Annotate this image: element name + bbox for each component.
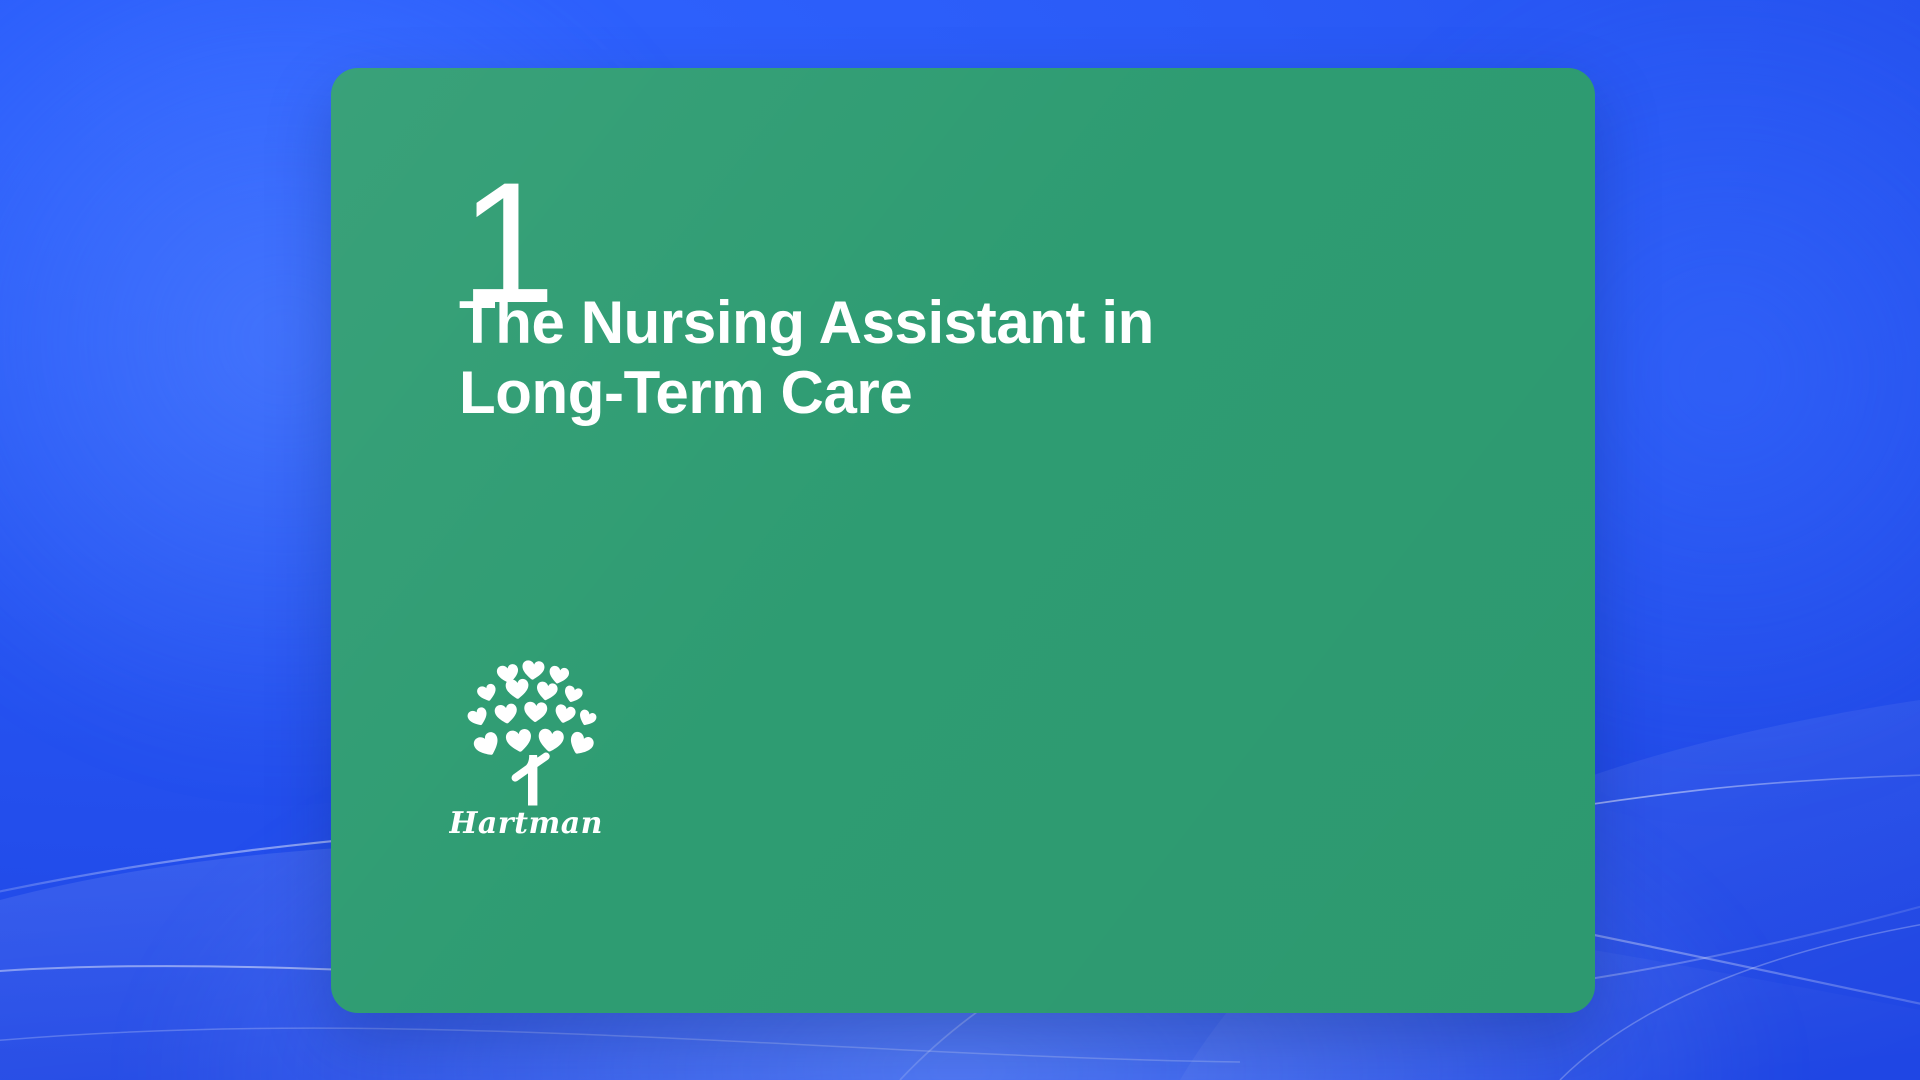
slide-canvas: 1 The Nursing Assistant in Long-Term Car… — [0, 0, 1920, 1080]
brand-wordmark-text: Hartman — [449, 806, 603, 841]
page-title: The Nursing Assistant in Long-Term Care — [459, 288, 1419, 428]
chapter-card: 1 The Nursing Assistant in Long-Term Car… — [331, 68, 1595, 1013]
page-title-line-2: Long-Term Care — [459, 358, 1419, 428]
brand-logo: Hartman — [449, 652, 619, 852]
page-title-line-1: The Nursing Assistant in — [459, 288, 1419, 358]
brand-wordmark: Hartman — [449, 800, 619, 846]
heart-tree-icon — [463, 652, 603, 807]
